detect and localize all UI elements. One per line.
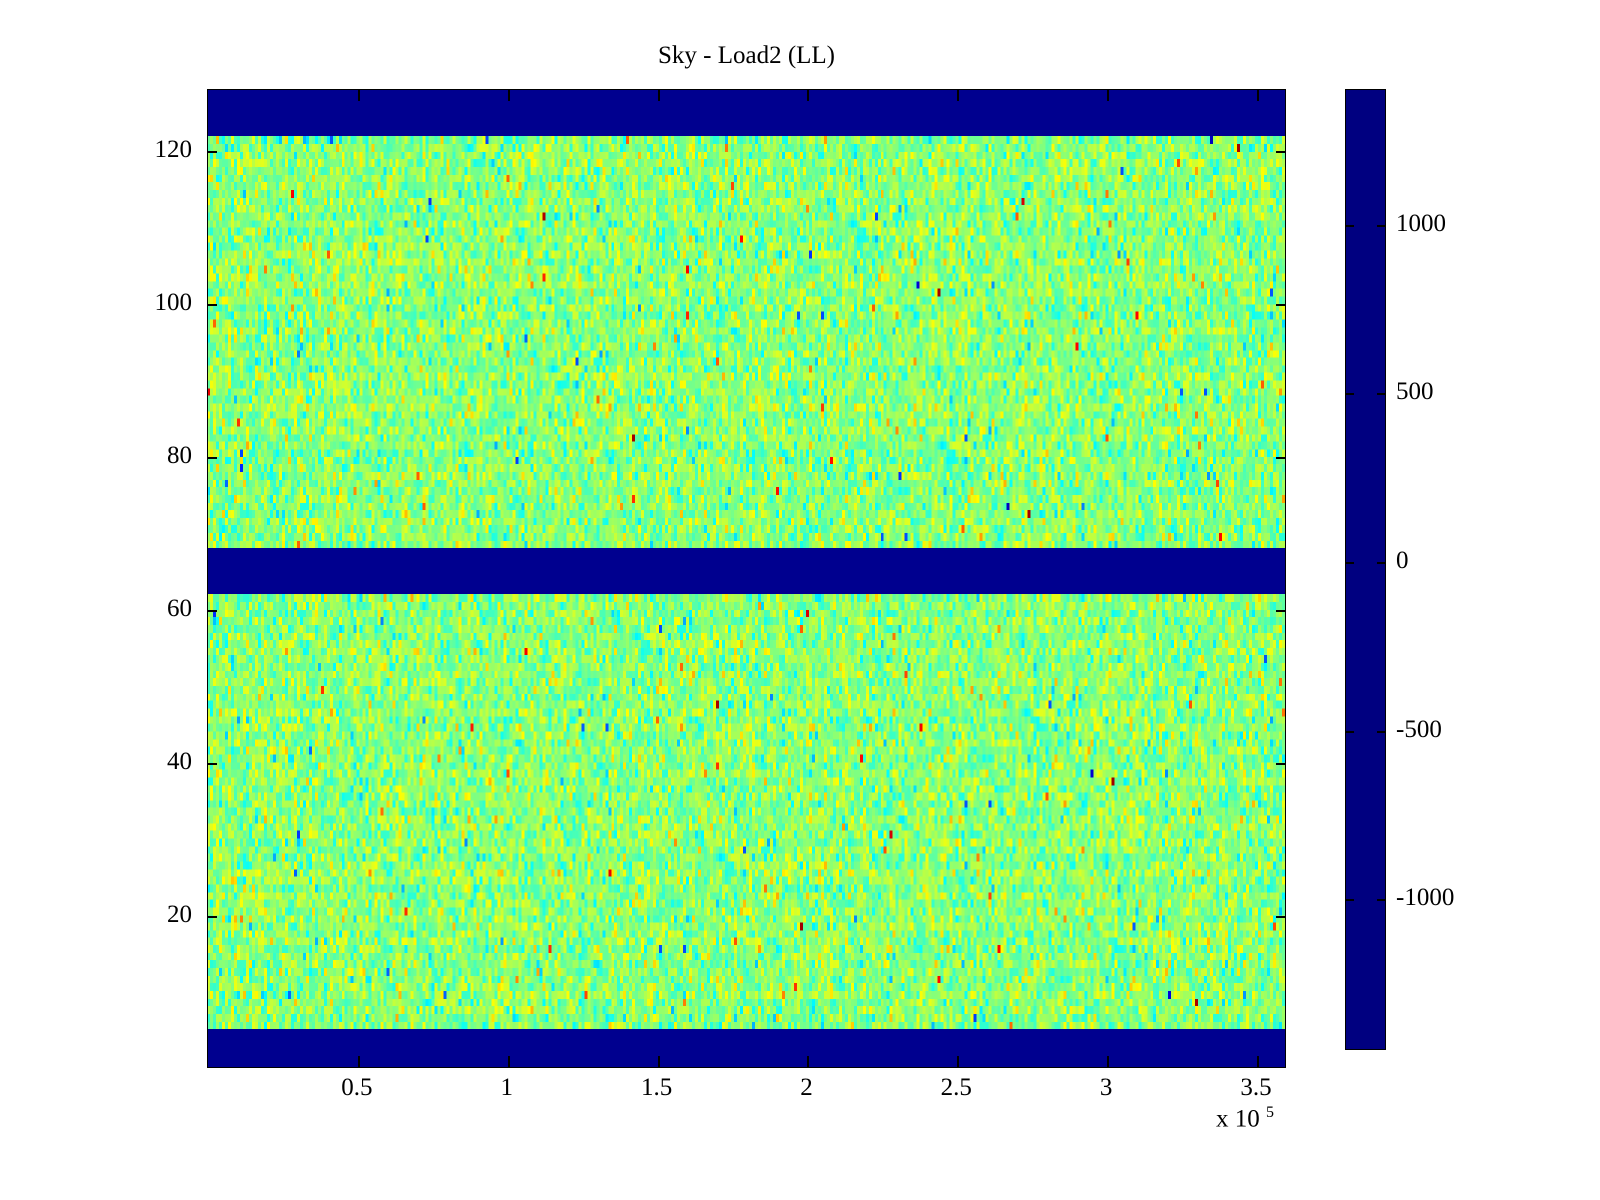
y-tick-label: 80 [167,442,192,470]
y-tick-mark [208,457,217,459]
colorbar-tick-label: 500 [1396,378,1434,406]
y-tick-mark [1276,151,1285,153]
y-tick-mark [1276,457,1285,459]
y-tick-mark [208,916,217,918]
x-tick-mark [658,90,660,101]
x-tick-label: 1 [500,1074,513,1102]
x-tick-mark [658,1056,660,1067]
colorbar-tick-mark [1377,393,1385,395]
colorbar-tick-label: -1000 [1396,884,1454,912]
y-tick-mark [1276,763,1285,765]
colorbar-tick-mark [1377,899,1385,901]
colorbar-tick-mark [1346,225,1354,227]
x-tick-mark [1107,1056,1109,1067]
colorbar-tick-label: 1000 [1396,210,1446,238]
colorbar-tick-mark [1346,899,1354,901]
x-tick-mark [1257,90,1259,101]
x-axis-exponent-label: x 10 5 [1216,1104,1274,1133]
colorbar-tick-label: 0 [1396,547,1409,575]
y-tick-mark [208,763,217,765]
y-tick-mark [208,610,217,612]
y-tick-mark [208,151,217,153]
figure-canvas: Sky - Load2 (LL) 20406080100120 0.511.52… [0,0,1600,1200]
x-tick-label: 1.5 [641,1074,672,1102]
page-title: Sky - Load2 (LL) [207,42,1286,70]
x-tick-label: 0.5 [341,1074,372,1102]
x-tick-mark [358,1056,360,1067]
x-tick-label: 2.5 [941,1074,972,1102]
colorbar-tick-mark [1377,731,1385,733]
x-tick-mark [807,90,809,101]
colorbar-tick-mark [1346,731,1354,733]
colorbar-tick-mark [1346,562,1354,564]
colorbar-tick-mark [1377,562,1385,564]
x-tick-mark [1257,1056,1259,1067]
colorbar-gradient [1346,90,1385,1049]
heatmap-axes[interactable] [207,89,1286,1068]
x-tick-mark [508,90,510,101]
colorbar[interactable] [1345,89,1386,1050]
y-tick-label: 120 [155,136,193,164]
y-tick-mark [1276,304,1285,306]
x-tick-mark [957,90,959,101]
y-tick-label: 100 [155,289,193,317]
y-tick-mark [1276,916,1285,918]
y-tick-mark [1276,610,1285,612]
y-tick-label: 40 [167,748,192,776]
x-tick-label: 3 [1100,1074,1113,1102]
x-tick-label: 3.5 [1240,1074,1271,1102]
x-tick-mark [957,1056,959,1067]
heatmap-image [208,90,1285,1067]
colorbar-tick-mark [1346,393,1354,395]
y-tick-mark [208,304,217,306]
colorbar-tick-label: -500 [1396,716,1442,744]
y-tick-label: 20 [167,901,192,929]
x-tick-label: 2 [800,1074,813,1102]
colorbar-tick-mark [1377,225,1385,227]
x-tick-mark [807,1056,809,1067]
x-tick-mark [1107,90,1109,101]
y-tick-label: 60 [167,595,192,623]
x-tick-mark [508,1056,510,1067]
x-tick-mark [358,90,360,101]
